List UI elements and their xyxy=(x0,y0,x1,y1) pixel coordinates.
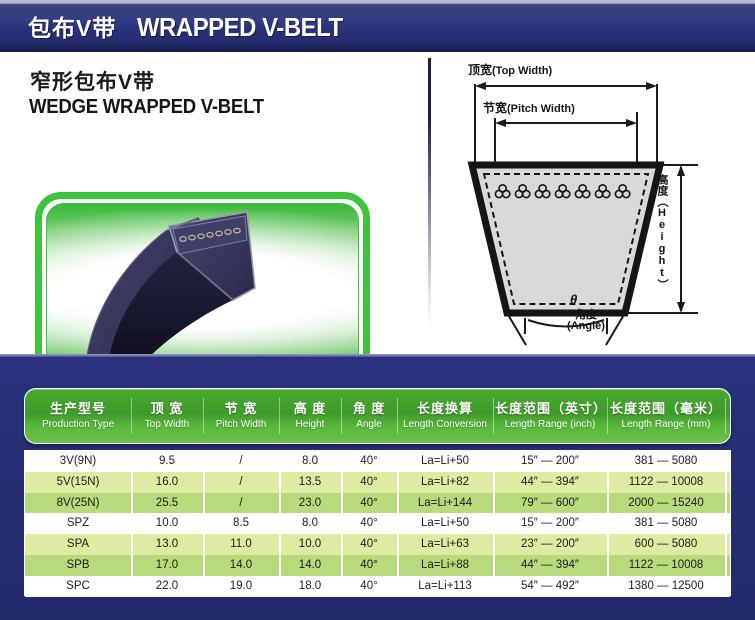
product-panel: 窄形包布V带 WEDGE WRAPPED V-BELT xyxy=(0,52,428,354)
header-cn-7: 长度范围（毫米） xyxy=(610,402,722,416)
header-en-5: Length Conversion xyxy=(403,419,487,430)
cell-top-width: 9.5 xyxy=(131,451,203,472)
cell-pitch-width: / xyxy=(203,472,279,493)
header-cn-4: 角 度 xyxy=(353,402,386,416)
cell-top-width: 22.0 xyxy=(131,576,203,597)
pitch-width-label-en: (Pitch Width) xyxy=(507,103,575,115)
cell-angle: 40° xyxy=(341,472,397,493)
cell-factory-mark: La xyxy=(725,493,755,514)
cell-length-range-mm: 1380 — 12500 xyxy=(607,576,725,597)
height-dimension-label: 高度（Height） xyxy=(656,174,667,290)
table-row: SPA 13.0 11.0 10.0 40° La=Li+63 23″ — 20… xyxy=(25,534,730,555)
cell-production-type: SPA xyxy=(25,534,131,555)
cell-length-conversion: La=Li+88 xyxy=(397,555,493,576)
pitch-width-dimension-label: 节宽(Pitch Width) xyxy=(483,99,575,116)
cell-length-range-mm: 2000 — 15240 xyxy=(607,493,725,514)
cell-length-range-mm: 381 — 5080 xyxy=(607,513,725,534)
header-en-1: Top Width xyxy=(145,419,189,430)
cell-production-type: 8V(25N) xyxy=(25,493,131,514)
cell-length-conversion: La=Li+82 xyxy=(397,472,493,493)
cell-length-conversion: La=Li+113 xyxy=(397,576,493,597)
top-width-dimension-label: 顶宽(Top Width) xyxy=(468,61,552,78)
cell-angle: 40° xyxy=(341,534,397,555)
table-header-top-width: 顶 宽 Top Width xyxy=(131,389,203,443)
table-header-length-range-mm: 长度范围（毫米） Length Range (mm) xyxy=(607,389,725,443)
cell-length-conversion: La=Li+50 xyxy=(397,513,493,534)
table-header-length-conversion: 长度换算 Length Conversion xyxy=(397,389,493,443)
cell-factory-mark: La xyxy=(725,451,755,472)
header-en-3: Height xyxy=(296,419,325,430)
cell-length-range-inch: 15″ — 200″ xyxy=(493,451,607,472)
pitch-width-label-cn: 节宽 xyxy=(483,101,507,115)
cell-length-range-inch: 79″ — 600″ xyxy=(493,493,607,514)
cell-top-width: 16.0 xyxy=(131,472,203,493)
cell-height: 10.0 xyxy=(279,534,341,555)
header-cn-3: 高 度 xyxy=(294,402,327,416)
belt-photo xyxy=(46,203,359,377)
cell-height: 18.0 xyxy=(279,576,341,597)
header-en-2: Pitch Width xyxy=(216,419,267,430)
cell-top-width: 10.0 xyxy=(131,513,203,534)
header-cn-5: 长度换算 xyxy=(417,402,473,416)
cell-factory-mark: La xyxy=(725,472,755,493)
cell-length-range-inch: 23″ — 200″ xyxy=(493,534,607,555)
table-header-row: 生产型号 Production Type 顶 宽 Top Width 节 宽 P… xyxy=(24,388,731,444)
cell-production-type: 3V(9N) xyxy=(25,451,131,472)
table-header-length-range-inch: 长度范围（英寸） Length Range (inch) xyxy=(493,389,607,443)
cell-height: 13.5 xyxy=(279,472,341,493)
cell-pitch-width: 19.0 xyxy=(203,576,279,597)
cell-length-conversion: La=Li+144 xyxy=(397,493,493,514)
cell-factory-mark: La xyxy=(725,513,755,534)
cell-top-width: 25.5 xyxy=(131,493,203,514)
product-title-en: WEDGE WRAPPED V-BELT xyxy=(29,96,264,119)
table-row: 3V(9N) 9.5 / 8.0 40° La=Li+50 15″ — 200″… xyxy=(25,451,730,472)
page-banner: 包布V带WRAPPED V-BELT xyxy=(0,0,755,52)
header-en-7: Length Range (mm) xyxy=(622,419,711,430)
header-cn-0: 生产型号 xyxy=(50,402,106,416)
cross-section-diagram-panel: 顶宽(Top Width) 节宽(Pitch Width) 高度（Height）… xyxy=(428,52,755,354)
cell-length-range-inch: 44″ — 394″ xyxy=(493,555,607,576)
cell-pitch-width: / xyxy=(203,493,279,514)
table-row: 8V(25N) 25.5 / 23.0 40° La=Li+144 79″ — … xyxy=(25,493,730,514)
cell-length-range-inch: 15″ — 200″ xyxy=(493,513,607,534)
cell-pitch-width: 14.0 xyxy=(203,555,279,576)
header-en-0: Production Type xyxy=(42,419,114,430)
table-header-pitch-width: 节 宽 Pitch Width xyxy=(203,389,279,443)
cell-height: 23.0 xyxy=(279,493,341,514)
cell-pitch-width: 8.5 xyxy=(203,513,279,534)
v-belt-illustration xyxy=(47,204,359,377)
top-width-label-en: (Top Width) xyxy=(492,65,552,77)
cell-length-conversion: La=Li+50 xyxy=(397,451,493,472)
table-row: 5V(15N) 16.0 / 13.5 40° La=Li+82 44″ — 3… xyxy=(25,472,730,493)
banner-title-cn: 包布V带 xyxy=(28,15,116,41)
table-header-angle: 角 度 Angle xyxy=(341,389,397,443)
cell-length-range-mm: 600 — 5080 xyxy=(607,534,725,555)
cell-production-type: SPC xyxy=(25,576,131,597)
cell-top-width: 13.0 xyxy=(131,534,203,555)
header-cn-6: 长度范围（英寸） xyxy=(495,402,605,416)
table-row: SPZ 10.0 8.5 8.0 40° La=Li+50 15″ — 200″… xyxy=(25,513,730,534)
header-cn-1: 顶 宽 xyxy=(151,402,184,416)
cell-factory-mark: La xyxy=(725,534,755,555)
cell-production-type: 5V(15N) xyxy=(25,472,131,493)
cell-factory-mark: La xyxy=(725,576,755,597)
table-row: SPB 17.0 14.0 14.0 40° La=Li+88 44″ — 39… xyxy=(25,555,730,576)
cell-length-range-inch: 54″ — 492″ xyxy=(493,576,607,597)
cell-top-width: 17.0 xyxy=(131,555,203,576)
cell-production-type: SPB xyxy=(25,555,131,576)
cell-length-range-mm: 1122 — 10008 xyxy=(607,472,725,493)
header-en-6: Length Range (inch) xyxy=(505,419,596,430)
angle-label-en: (Angle) xyxy=(554,320,618,332)
cell-length-range-mm: 1122 — 10008 xyxy=(607,555,725,576)
angle-theta-symbol: θ xyxy=(570,292,577,307)
cell-length-range-inch: 44″ — 394″ xyxy=(493,472,607,493)
top-width-label-cn: 顶宽 xyxy=(468,63,492,77)
table-header-height: 高 度 Height xyxy=(279,389,341,443)
cell-height: 8.0 xyxy=(279,451,341,472)
banner-title-en: WRAPPED V-BELT xyxy=(137,12,343,43)
header-en-4: Angle xyxy=(356,419,382,430)
table-header-factory-mark: 标识标准 Factory Mark xyxy=(725,389,731,443)
cell-angle: 40° xyxy=(341,576,397,597)
banner-title: 包布V带WRAPPED V-BELT xyxy=(28,9,352,43)
cell-factory-mark: La xyxy=(725,555,755,576)
cell-production-type: SPZ xyxy=(25,513,131,534)
cell-angle: 40° xyxy=(341,555,397,576)
cell-angle: 40° xyxy=(341,451,397,472)
cell-height: 14.0 xyxy=(279,555,341,576)
specification-table-body: 3V(9N) 9.5 / 8.0 40° La=Li+50 15″ — 200″… xyxy=(24,450,731,596)
cell-angle: 40° xyxy=(341,513,397,534)
cell-length-range-mm: 381 — 5080 xyxy=(607,451,725,472)
specification-table-section: 生产型号 Production Type 顶 宽 Top Width 节 宽 P… xyxy=(0,354,755,620)
cell-pitch-width: / xyxy=(203,451,279,472)
cell-height: 8.0 xyxy=(279,513,341,534)
content-area: 窄形包布V带 WEDGE WRAPPED V-BELT xyxy=(0,52,755,354)
table-header-production-type: 生产型号 Production Type xyxy=(25,389,131,443)
cell-pitch-width: 11.0 xyxy=(203,534,279,555)
cell-length-conversion: La=Li+63 xyxy=(397,534,493,555)
cell-angle: 40° xyxy=(341,493,397,514)
product-title-cn: 窄形包布V带 xyxy=(30,66,155,96)
table-row: SPC 22.0 19.0 18.0 40° La=Li+113 54″ — 4… xyxy=(25,576,730,597)
header-cn-2: 节 宽 xyxy=(225,402,258,416)
